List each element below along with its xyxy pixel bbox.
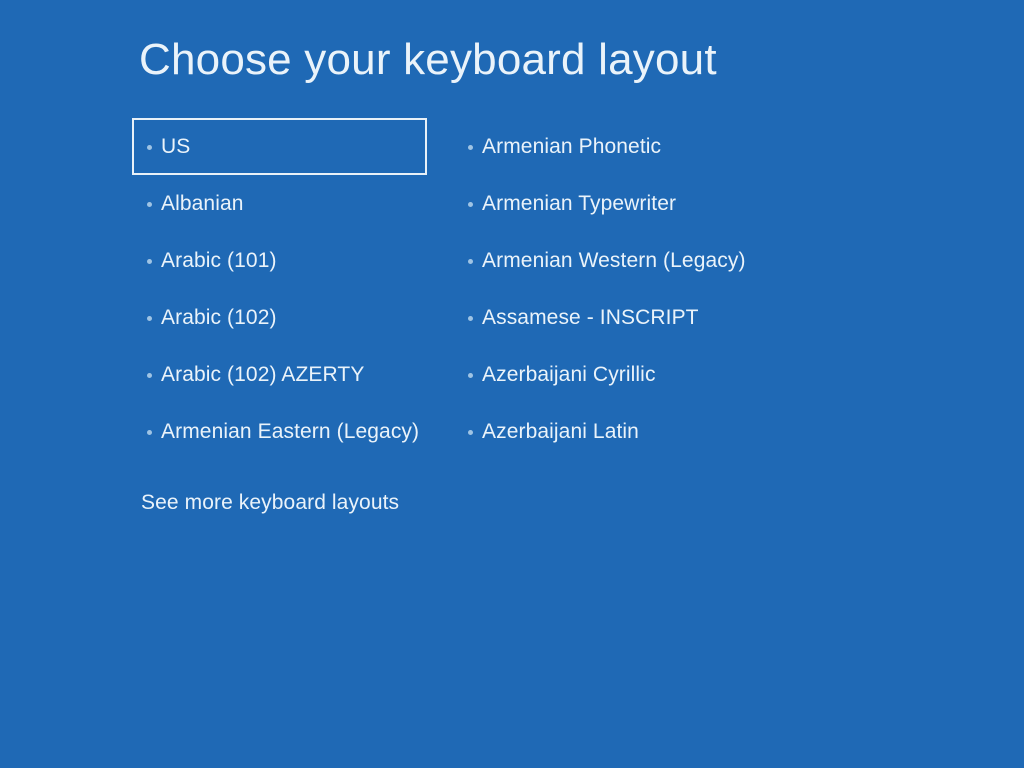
keyboard-layout-label: Azerbaijani Latin — [482, 421, 639, 442]
keyboard-layout-item-right-1[interactable]: Armenian Typewriter — [455, 175, 785, 232]
keyboard-layout-item-right-0[interactable]: Armenian Phonetic — [455, 118, 785, 175]
see-more-keyboard-layouts-link[interactable]: See more keyboard layouts — [141, 492, 399, 513]
keyboard-layout-item-left-5[interactable]: Armenian Eastern (Legacy) — [132, 403, 427, 460]
keyboard-layout-label: Armenian Western (Legacy) — [482, 250, 746, 271]
keyboard-layout-item-right-2[interactable]: Armenian Western (Legacy) — [455, 232, 785, 289]
bullet-dot-icon — [147, 373, 152, 378]
keyboard-layout-label: Arabic (102) — [161, 307, 277, 328]
keyboard-layout-label: Arabic (102) AZERTY — [161, 364, 364, 385]
keyboard-layout-item-left-3[interactable]: Arabic (102) — [132, 289, 427, 346]
keyboard-layout-item-left-2[interactable]: Arabic (101) — [132, 232, 427, 289]
bullet-dot-icon — [147, 430, 152, 435]
bullet-dot-icon — [468, 430, 473, 435]
keyboard-layout-item-right-4[interactable]: Azerbaijani Cyrillic — [455, 346, 785, 403]
keyboard-layout-label: Armenian Typewriter — [482, 193, 676, 214]
keyboard-layout-item-left-1[interactable]: Albanian — [132, 175, 427, 232]
keyboard-layout-label: Arabic (101) — [161, 250, 277, 271]
keyboard-layout-list-left: USAlbanianArabic (101)Arabic (102)Arabic… — [132, 118, 427, 460]
bullet-dot-icon — [468, 373, 473, 378]
keyboard-layout-label: Armenian Eastern (Legacy) — [161, 421, 419, 442]
page-title: Choose your keyboard layout — [139, 36, 717, 84]
bullet-dot-icon — [468, 202, 473, 207]
keyboard-layout-item-right-5[interactable]: Azerbaijani Latin — [455, 403, 785, 460]
keyboard-layout-item-right-3[interactable]: Assamese - INSCRIPT — [455, 289, 785, 346]
keyboard-layout-item-left-0[interactable]: US — [132, 118, 427, 175]
keyboard-layout-screen: Choose your keyboard layout USAlbanianAr… — [0, 0, 1024, 768]
keyboard-layout-label: Albanian — [161, 193, 244, 214]
bullet-dot-icon — [147, 202, 152, 207]
bullet-dot-icon — [147, 316, 152, 321]
keyboard-layout-label: Armenian Phonetic — [482, 136, 661, 157]
keyboard-layout-label: Azerbaijani Cyrillic — [482, 364, 656, 385]
bullet-dot-icon — [468, 259, 473, 264]
keyboard-layout-label: Assamese - INSCRIPT — [482, 307, 699, 328]
bullet-dot-icon — [147, 145, 152, 150]
keyboard-layout-item-left-4[interactable]: Arabic (102) AZERTY — [132, 346, 427, 403]
bullet-dot-icon — [468, 316, 473, 321]
bullet-dot-icon — [468, 145, 473, 150]
keyboard-layout-list-right: Armenian PhoneticArmenian TypewriterArme… — [455, 118, 785, 460]
keyboard-layout-label: US — [161, 136, 190, 157]
bullet-dot-icon — [147, 259, 152, 264]
